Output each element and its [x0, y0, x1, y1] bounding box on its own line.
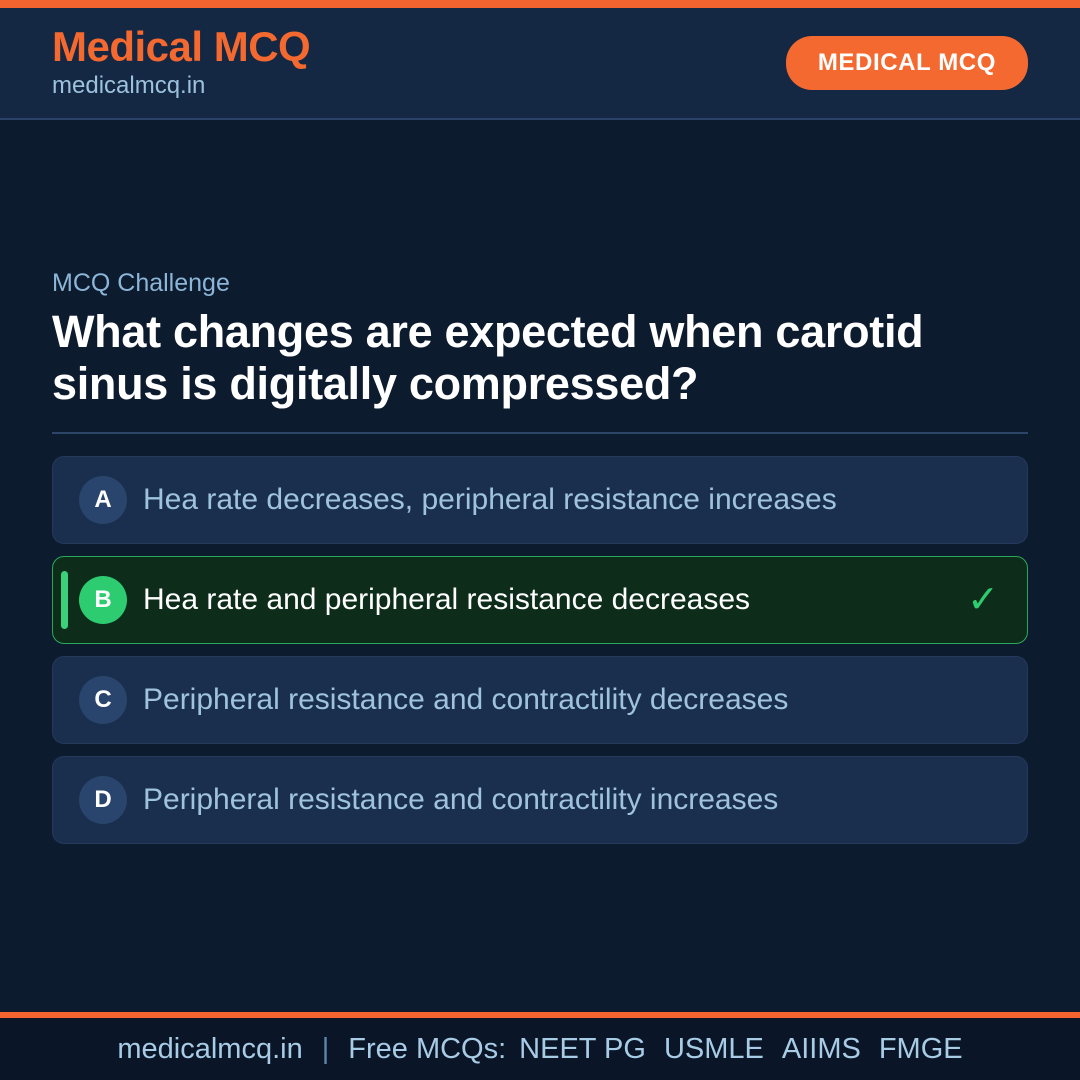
correct-accent-bar [61, 571, 68, 629]
question-text: What changes are expected when carotid s… [52, 306, 1028, 410]
mcq-card: Medical MCQ medicalmcq.in MEDICAL MCQ MC… [0, 0, 1080, 1080]
option-text: Peripheral resistance and contractility … [143, 684, 961, 716]
option-text: Hea rate and peripheral resistance decre… [143, 584, 961, 616]
option-letter-badge: D [79, 776, 127, 824]
footer-exam: AIIMS [782, 1033, 861, 1066]
section-divider [52, 432, 1028, 434]
page-header: Medical MCQ medicalmcq.in MEDICAL MCQ [0, 8, 1080, 120]
option-letter-badge: A [79, 476, 127, 524]
option-letter-badge: C [79, 676, 127, 724]
brand-title: Medical MCQ [52, 25, 310, 69]
footer-separator: | [316, 1033, 336, 1066]
options-list: A Hea rate decreases, peripheral resista… [52, 456, 1028, 844]
option-a[interactable]: A Hea rate decreases, peripheral resista… [52, 456, 1028, 544]
eyebrow-label: MCQ Challenge [52, 268, 1028, 298]
option-text: Peripheral resistance and contractility … [143, 784, 961, 816]
footer-exam: FMGE [879, 1033, 963, 1066]
footer-exam: NEET PG [519, 1033, 646, 1066]
footer-exam: USMLE [664, 1033, 764, 1066]
option-c[interactable]: C Peripheral resistance and contractilit… [52, 656, 1028, 744]
footer-content: medicalmcq.in | Free MCQs: NEET PG USMLE… [117, 1033, 962, 1066]
brand-block: Medical MCQ medicalmcq.in [52, 25, 310, 101]
brand-url: medicalmcq.in [52, 71, 310, 101]
page-footer: medicalmcq.in | Free MCQs: NEET PG USMLE… [0, 1012, 1080, 1080]
footer-label: Free MCQs: [348, 1033, 506, 1066]
top-accent-bar [0, 0, 1080, 8]
option-d[interactable]: D Peripheral resistance and contractilit… [52, 756, 1028, 844]
footer-site: medicalmcq.in [117, 1033, 302, 1066]
header-badge: MEDICAL MCQ [786, 36, 1028, 90]
main-content: MCQ Challenge What changes are expected … [0, 120, 1080, 1012]
option-b[interactable]: B Hea rate and peripheral resistance dec… [52, 556, 1028, 644]
option-text: Hea rate decreases, peripheral resistanc… [143, 484, 961, 516]
check-icon: ✓ [961, 581, 1005, 619]
option-letter-badge: B [79, 576, 127, 624]
footer-exam-list: NEET PG USMLE AIIMS FMGE [519, 1033, 962, 1066]
